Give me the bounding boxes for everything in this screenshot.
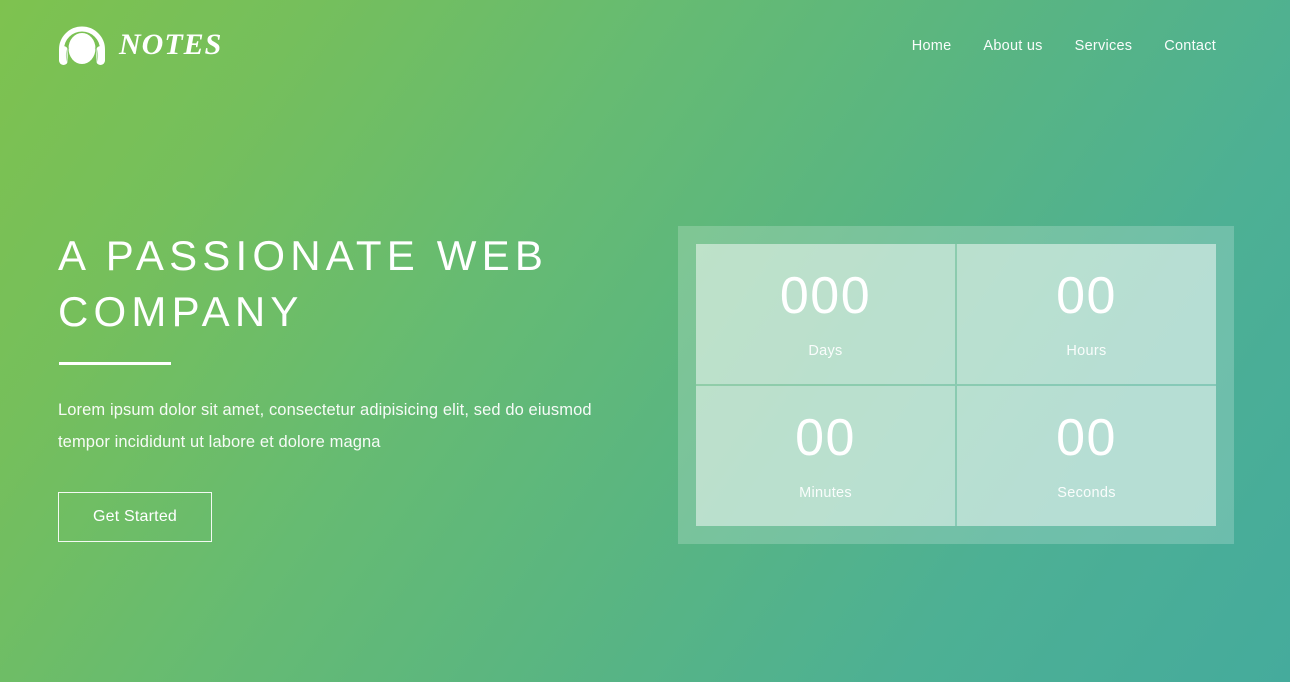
nav-link-contact[interactable]: Contact [1148, 33, 1232, 60]
hero-paragraph: Lorem ipsum dolor sit amet, consectetur … [58, 395, 618, 458]
countdown-cell-hours: 00 Hours [957, 244, 1216, 384]
countdown-grid: 000 Days 00 Hours 00 Minutes 00 Seconds [696, 244, 1216, 526]
nav-link-services[interactable]: Services [1059, 33, 1149, 60]
countdown-label-days: Days [808, 344, 842, 359]
main-navigation: Home About us Services Contact [896, 33, 1232, 60]
countdown-cell-seconds: 00 Seconds [957, 386, 1216, 526]
countdown-cell-days: 000 Days [696, 244, 955, 384]
countdown-label-seconds: Seconds [1057, 486, 1116, 501]
get-started-button[interactable]: Get Started [58, 492, 212, 543]
countdown-value-hours: 00 [1056, 270, 1117, 322]
nav-link-home[interactable]: Home [896, 33, 968, 60]
nav-link-about-us[interactable]: About us [967, 33, 1058, 60]
brand-name: NOTES [119, 30, 222, 62]
hero-section: A PASSIONATE WEB COMPANY Lorem ipsum dol… [0, 92, 1290, 682]
hero-copy: A PASSIONATE WEB COMPANY Lorem ipsum dol… [58, 228, 643, 542]
countdown-panel: 000 Days 00 Hours 00 Minutes 00 Seconds [678, 226, 1234, 544]
brand-logo[interactable]: NOTES [56, 22, 222, 70]
countdown-value-seconds: 00 [1056, 412, 1117, 464]
headphones-icon [56, 22, 108, 70]
countdown-value-minutes: 00 [795, 412, 856, 464]
site-header: NOTES Home About us Services Contact [0, 0, 1290, 92]
hero-divider [59, 362, 171, 365]
countdown-value-days: 000 [780, 270, 871, 322]
countdown-label-minutes: Minutes [799, 486, 852, 501]
countdown-label-hours: Hours [1066, 344, 1106, 359]
hero-title: A PASSIONATE WEB COMPANY [58, 228, 643, 341]
countdown-cell-minutes: 00 Minutes [696, 386, 955, 526]
